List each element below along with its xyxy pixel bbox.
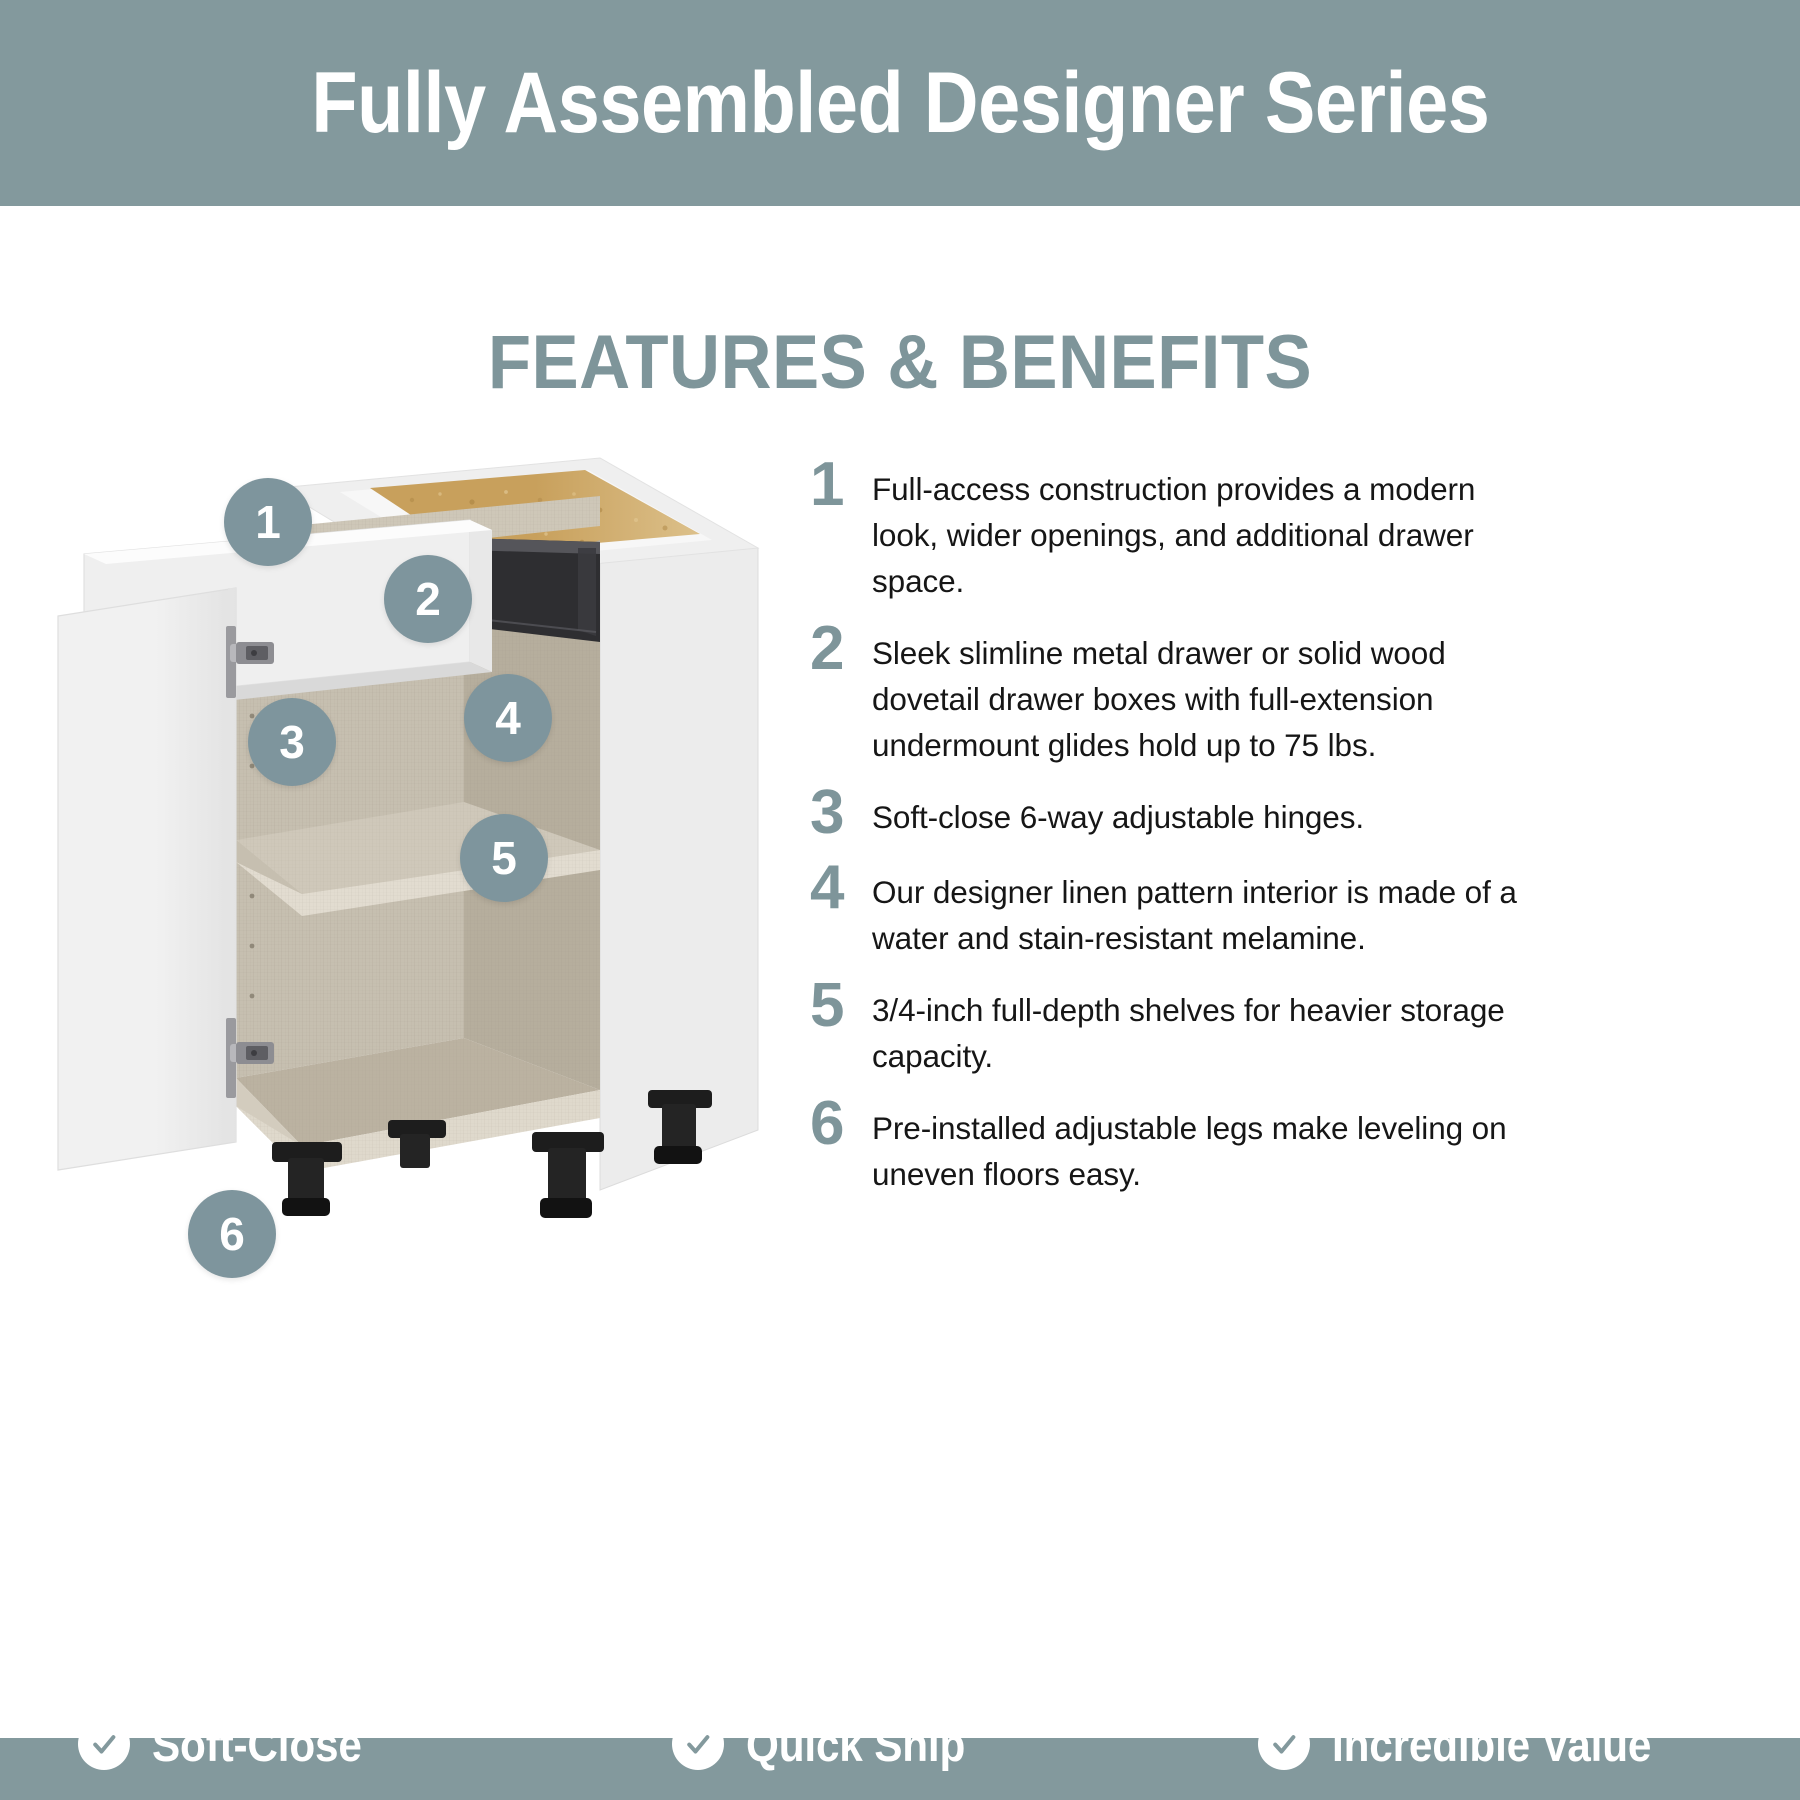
feature-item-6: 6 Pre-installed adjustable legs make lev… xyxy=(800,1094,1540,1198)
feature-item-2: 2 Sleek slimline metal drawer or solid w… xyxy=(800,619,1540,769)
footer-item-soft-close: Soft-Close xyxy=(78,1718,385,1770)
cabinet-right-side-panel xyxy=(600,500,758,1190)
feature-text-2: Sleek slimline metal drawer or solid woo… xyxy=(872,619,1540,769)
header-band: Fully Assembled Designer Series xyxy=(0,0,1800,206)
callout-badge-6: 6 xyxy=(188,1190,276,1278)
feature-number-3: 3 xyxy=(800,783,872,844)
check-circle-icon xyxy=(78,1718,130,1770)
feature-item-1: 1 Full-access construction provides a mo… xyxy=(800,455,1540,605)
feature-text-6: Pre-installed adjustable legs make level… xyxy=(872,1094,1540,1198)
footer-items: Soft-Close Quick Ship Incredible Value xyxy=(0,1660,1800,1800)
cabinet-door xyxy=(58,588,236,1170)
footer-label-soft-close: Soft-Close xyxy=(152,1721,362,1768)
callout-badge-2: 2 xyxy=(384,555,472,643)
callout-badge-4: 4 xyxy=(464,674,552,762)
section-title: FEATURES & BENEFITS xyxy=(63,325,1737,401)
feature-number-4: 4 xyxy=(800,858,872,919)
feature-number-2: 2 xyxy=(800,619,872,680)
check-circle-icon xyxy=(1258,1718,1310,1770)
page-title: Fully Assembled Designer Series xyxy=(311,60,1489,146)
callout-badge-3: 3 xyxy=(248,698,336,786)
check-circle-icon xyxy=(672,1718,724,1770)
feature-text-3: Soft-close 6-way adjustable hinges. xyxy=(872,783,1540,841)
feature-item-3: 3 Soft-close 6-way adjustable hinges. xyxy=(800,783,1540,844)
feature-number-1: 1 xyxy=(800,455,872,516)
footer-label-incredible-value: Incredible Value xyxy=(1332,1721,1651,1768)
callout-badge-1: 1 xyxy=(224,478,312,566)
product-illustration: #ffffff #fdfdfd #fbfbfb #b4ab99 #a39a88 xyxy=(40,430,800,1310)
feature-text-4: Our designer linen pattern interior is m… xyxy=(872,858,1540,962)
footer-item-incredible-value: Incredible Value xyxy=(1258,1718,1687,1770)
feature-number-6: 6 xyxy=(800,1094,872,1155)
feature-item-4: 4 Our designer linen pattern interior is… xyxy=(800,858,1540,962)
feature-text-5: 3/4-inch full-depth shelves for heavier … xyxy=(872,976,1540,1080)
feature-item-5: 5 3/4-inch full-depth shelves for heavie… xyxy=(800,976,1540,1080)
footer-label-quick-ship: Quick Ship xyxy=(746,1721,965,1768)
features-list: 1 Full-access construction provides a mo… xyxy=(800,455,1540,1212)
footer-item-quick-ship: Quick Ship xyxy=(672,1718,990,1770)
callout-badge-5: 5 xyxy=(460,814,548,902)
feature-number-5: 5 xyxy=(800,976,872,1037)
feature-text-1: Full-access construction provides a mode… xyxy=(872,455,1540,605)
